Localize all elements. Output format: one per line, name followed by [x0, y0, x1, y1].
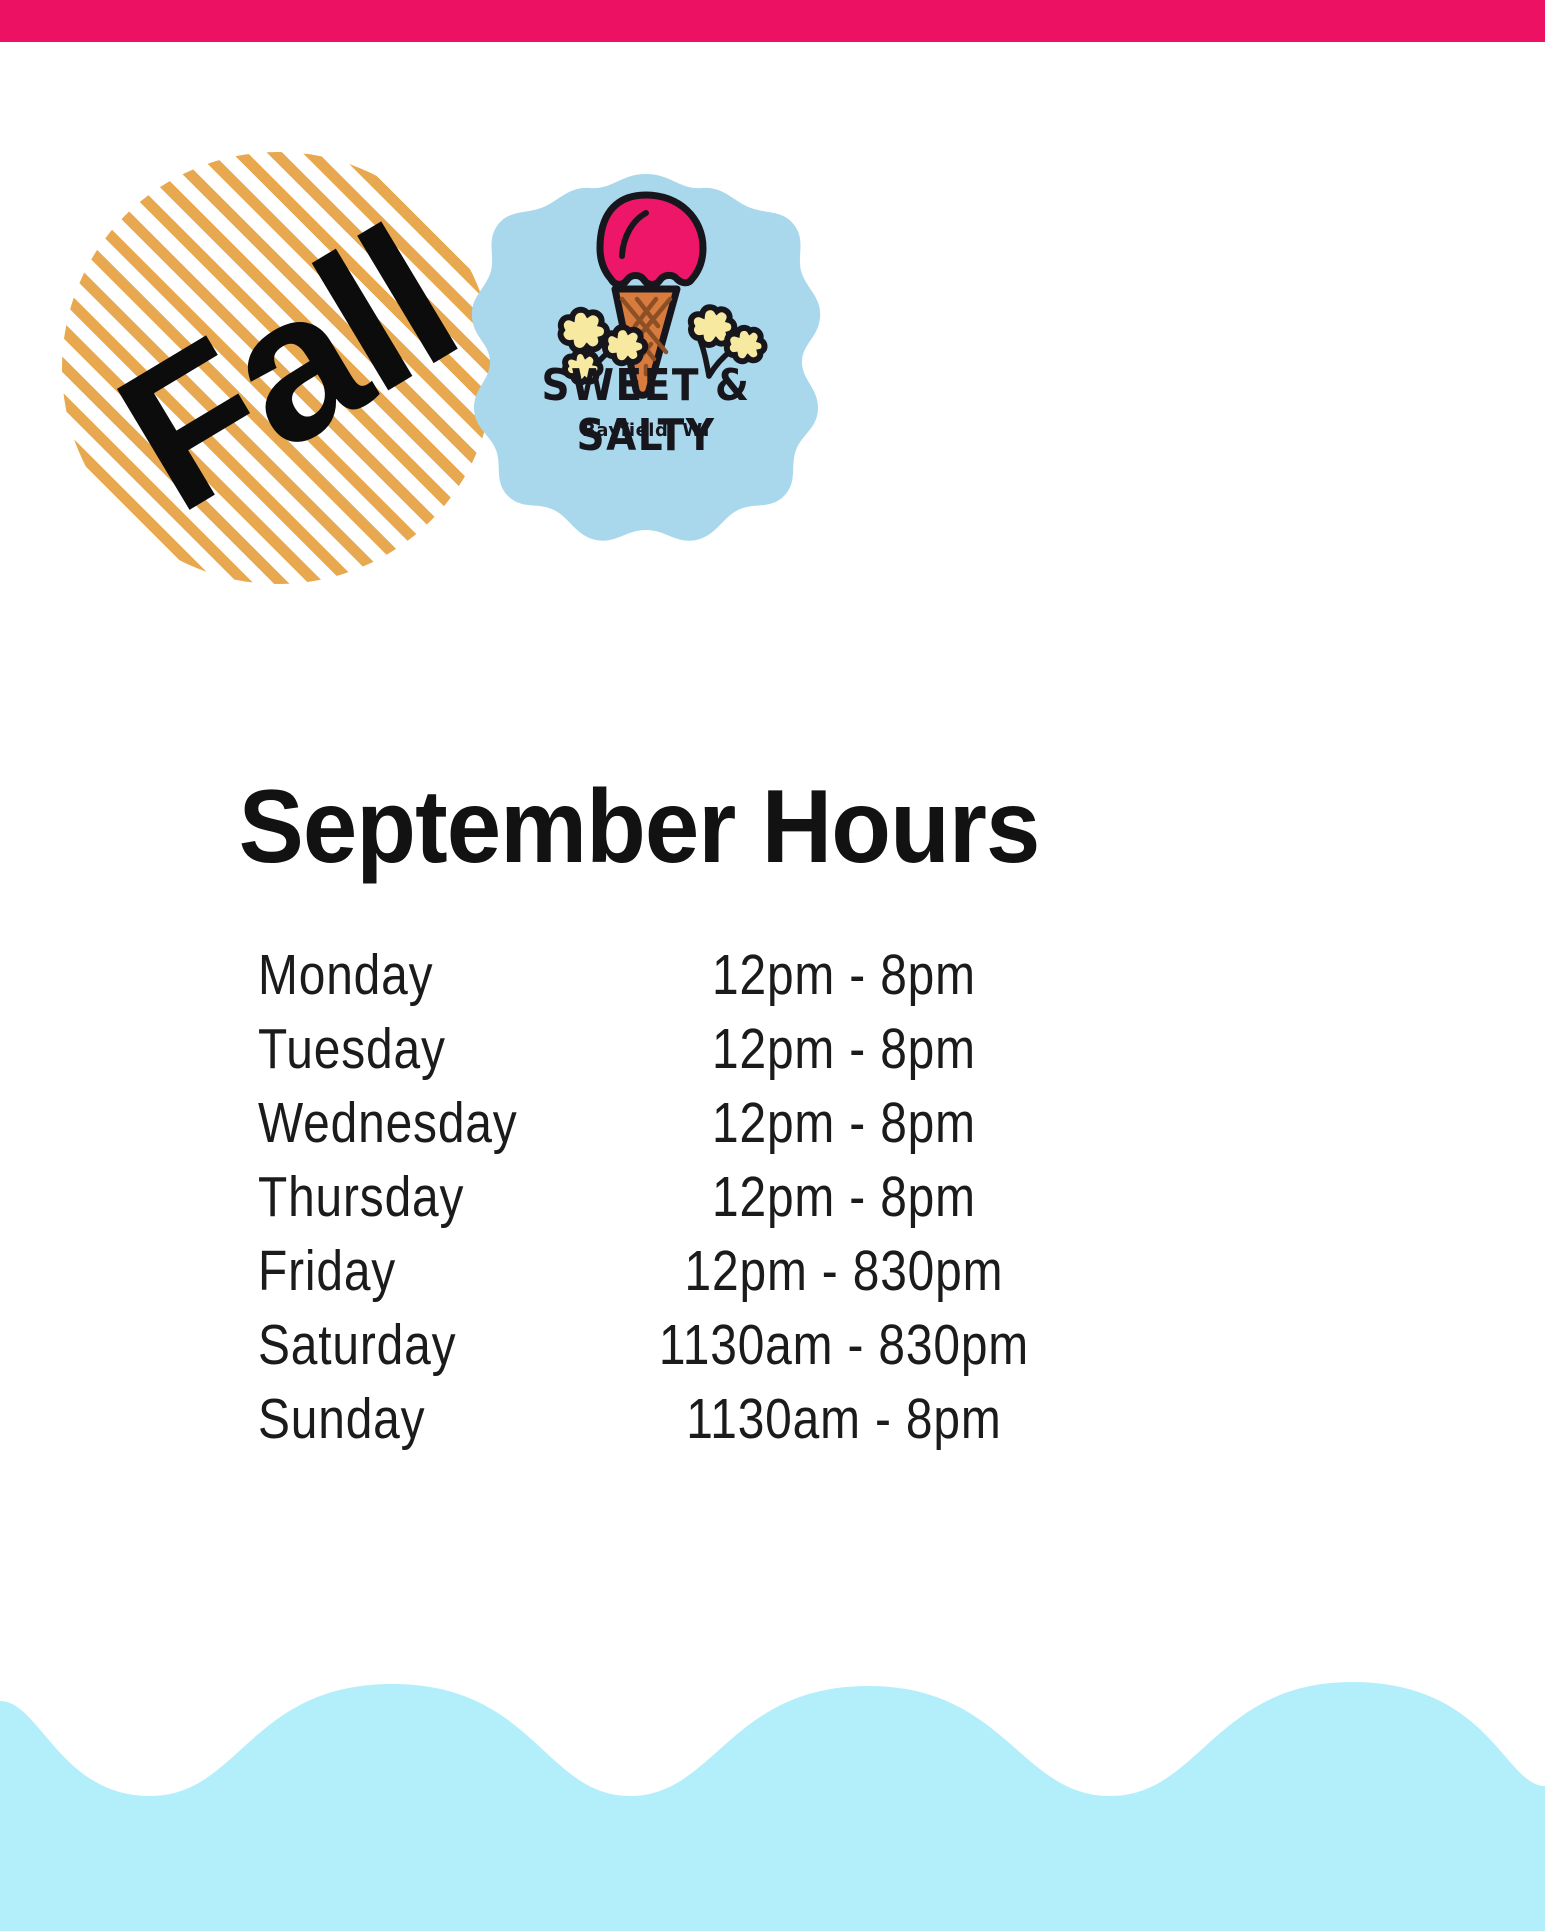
time-value: 12pm - 830pm [656, 1234, 1032, 1308]
table-row: Monday 12pm - 8pm [258, 938, 1068, 1012]
day-label: Tuesday [258, 1012, 562, 1086]
time-value: 1130am - 830pm [656, 1308, 1032, 1382]
table-row: Friday 12pm - 830pm [258, 1234, 1068, 1308]
table-row: Tuesday 12pm - 8pm [258, 1012, 1068, 1086]
time-value: 1130am - 8pm [656, 1382, 1032, 1456]
table-row: Wednesday 12pm - 8pm [258, 1086, 1068, 1160]
fall-season-badge: Fall [62, 152, 494, 584]
page-title: September Hours [38, 766, 1239, 889]
day-label: Wednesday [258, 1086, 562, 1160]
time-value: 12pm - 8pm [656, 1012, 1032, 1086]
day-label: Monday [258, 938, 562, 1012]
fall-word-wrapper: Fall [62, 152, 494, 584]
logo-city-label: Bayfield, WI [466, 420, 826, 441]
top-accent-bar [0, 0, 1545, 42]
hours-table: Monday 12pm - 8pm Tuesday 12pm - 8pm Wed… [258, 938, 1068, 1456]
table-row: Saturday 1130am - 830pm [258, 1308, 1068, 1382]
day-label: Friday [258, 1234, 562, 1308]
bottom-wave-decoration [0, 1666, 1545, 1931]
day-label: Thursday [258, 1160, 562, 1234]
day-label: Saturday [258, 1308, 562, 1382]
time-value: 12pm - 8pm [656, 938, 1032, 1012]
day-label: Sunday [258, 1382, 562, 1456]
time-value: 12pm - 8pm [656, 1160, 1032, 1234]
fall-label: Fall [94, 204, 478, 536]
table-row: Sunday 1130am - 8pm [258, 1382, 1068, 1456]
time-value: 12pm - 8pm [656, 1086, 1032, 1160]
table-row: Thursday 12pm - 8pm [258, 1160, 1068, 1234]
logo-brand-name: SWEET & SALTY [466, 361, 826, 462]
sweet-and-salty-logo: SWEET & SALTY Bayfield, WI [466, 168, 826, 568]
